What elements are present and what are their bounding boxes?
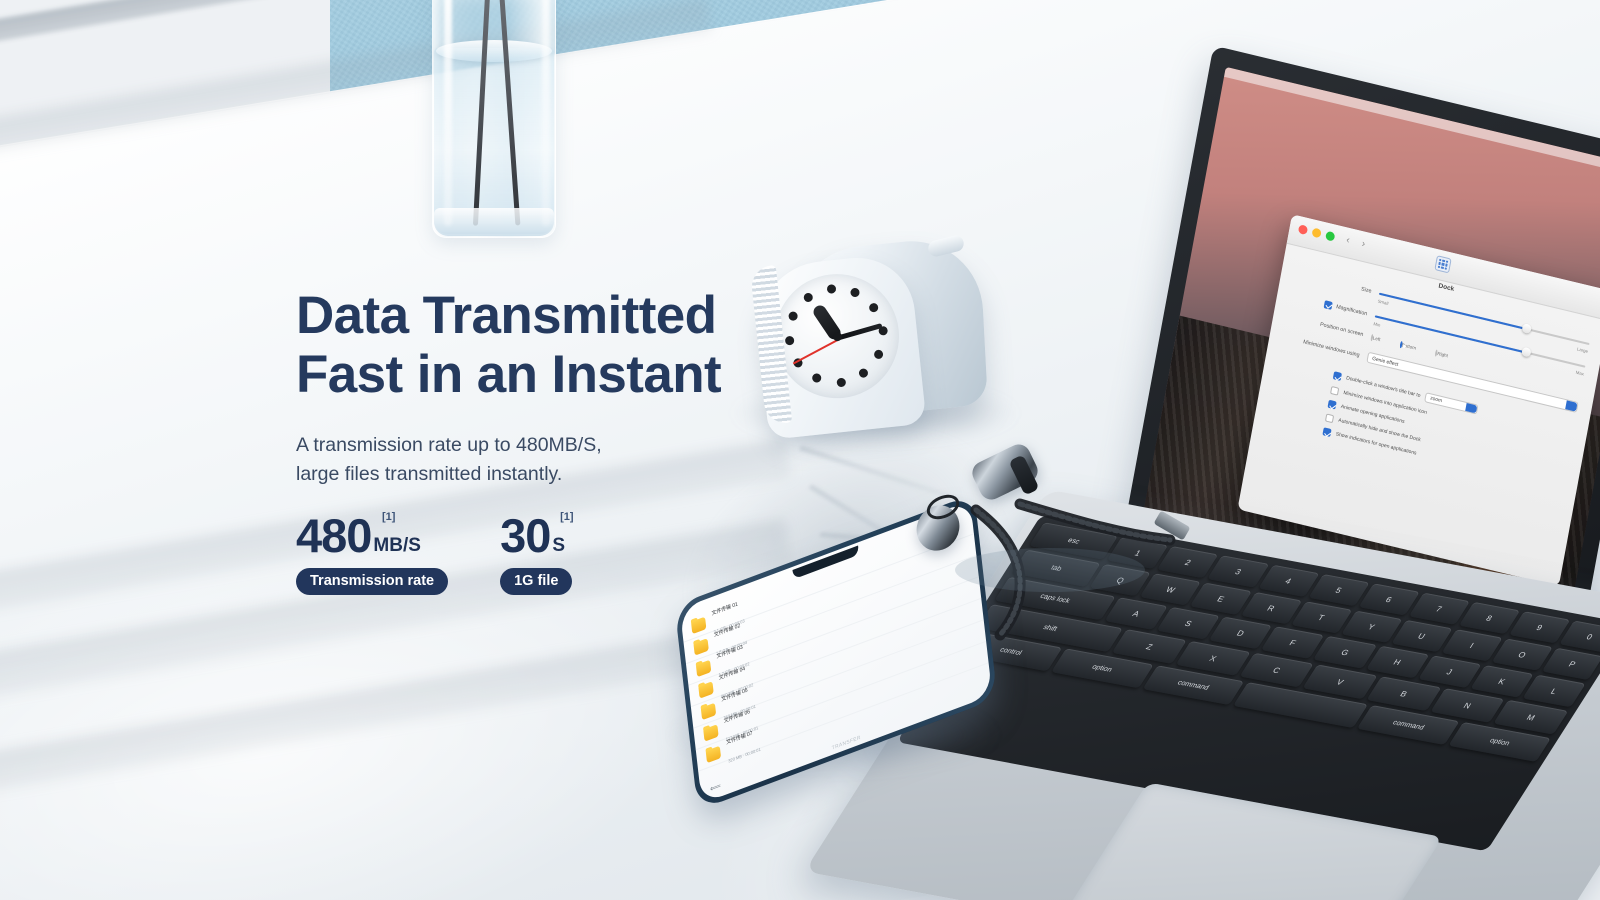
slider-max-label: Max	[1575, 370, 1584, 377]
stat-transmission-rate: [1] 480 MB/S Transmission rate	[296, 514, 448, 595]
back-icon[interactable]: ‹	[1345, 235, 1350, 247]
key-6[interactable]: 6	[1358, 583, 1419, 615]
clock-second-hand	[793, 339, 838, 364]
checkbox[interactable]	[1327, 400, 1336, 410]
page-title: Data Transmitted Fast in an Instant	[296, 286, 766, 405]
subheadline-line-1: A transmission rate up to 480MB/S,	[296, 431, 766, 460]
stat-number: 30	[500, 514, 550, 559]
subheadline: A transmission rate up to 480MB/S, large…	[296, 431, 766, 489]
key-7[interactable]: 7	[1408, 593, 1469, 625]
glass-highlight	[542, 0, 550, 226]
stat-number: 480	[296, 514, 371, 559]
folder-icon	[698, 681, 713, 699]
checkbox[interactable]	[1330, 386, 1339, 396]
key-j[interactable]: J	[1418, 655, 1481, 688]
key-i[interactable]: I	[1441, 629, 1502, 661]
row-label: Magnification	[1336, 304, 1368, 317]
stat-unit: S	[552, 535, 565, 557]
marketing-copy: Data Transmitted Fast in an Instant A tr…	[296, 286, 766, 595]
water-surface	[436, 40, 552, 62]
checkbox[interactable]	[1333, 371, 1342, 381]
key-f[interactable]: F	[1261, 626, 1324, 659]
radio-label: Left	[1373, 335, 1381, 342]
glass-base	[434, 208, 554, 236]
row-label: Size	[1295, 270, 1380, 296]
close-icon[interactable]	[1298, 224, 1308, 235]
minimize-icon[interactable]	[1311, 227, 1321, 238]
slider-max-label: Large	[1577, 346, 1589, 354]
key-o[interactable]: O	[1491, 638, 1552, 670]
headline-line-1: Data Transmitted	[296, 286, 766, 345]
checkbox[interactable]	[1322, 427, 1331, 437]
zoom-icon[interactable]	[1325, 231, 1335, 242]
slider-min-label: Small	[1377, 299, 1389, 306]
headline-line-2: Fast in an Instant	[296, 345, 766, 404]
position-radio-bottom[interactable]: Bottom	[1400, 341, 1417, 350]
folder-icon	[706, 746, 721, 764]
slider-min-label: Min	[1373, 321, 1381, 328]
key-h[interactable]: H	[1366, 646, 1429, 679]
phone-brand-label: TRANSFER	[832, 735, 862, 752]
key-t[interactable]: T	[1291, 601, 1352, 633]
stat-transfer-time: [1] 30 S 1G file	[500, 514, 572, 595]
footnote-marker: [1]	[560, 511, 573, 523]
folder-icon	[693, 638, 708, 656]
show-all-grid-icon[interactable]	[1434, 255, 1451, 273]
scene-stage: ‹ › Dock Size	[0, 0, 1600, 900]
key-u[interactable]: U	[1391, 620, 1452, 652]
key-4[interactable]: 4	[1258, 565, 1319, 597]
water-volume	[434, 48, 554, 234]
list-item-meta: 320 MB · 00:00:01	[728, 746, 761, 763]
key-k[interactable]: K	[1470, 665, 1533, 698]
checkbox[interactable]	[1325, 413, 1334, 423]
select-value: zoom	[1430, 395, 1443, 404]
folder-icon	[691, 617, 706, 635]
radio-label: Right	[1437, 350, 1448, 357]
magnification-checkbox[interactable]	[1324, 300, 1333, 310]
key-l[interactable]: L	[1522, 675, 1585, 708]
key-p[interactable]: P	[1542, 648, 1600, 680]
position-radio-right[interactable]: Right	[1435, 350, 1448, 358]
glass-highlight	[444, 0, 452, 226]
stat-unit: MB/S	[373, 535, 421, 557]
back-arrow-icon[interactable]: ⟸	[710, 781, 722, 794]
folder-icon	[701, 703, 716, 721]
key-y[interactable]: Y	[1341, 611, 1402, 643]
position-radio-left[interactable]: Left	[1371, 334, 1381, 341]
folder-icon	[703, 724, 718, 742]
status-badge: 1G file	[500, 568, 572, 595]
key-8[interactable]: 8	[1459, 602, 1520, 634]
glass-of-water	[424, 0, 564, 246]
key-r[interactable]: R	[1240, 592, 1301, 624]
folder-icon	[696, 660, 711, 678]
footnote-marker: [1]	[382, 511, 395, 523]
clock-center-cap	[832, 331, 842, 341]
chevron-down-icon[interactable]	[1565, 400, 1577, 411]
key-g[interactable]: G	[1313, 636, 1376, 669]
status-badge: Transmission rate	[296, 568, 448, 595]
forward-icon[interactable]: ›	[1361, 238, 1366, 250]
key-9[interactable]: 9	[1509, 611, 1570, 643]
list-item-title: 文件传输 07	[726, 730, 753, 746]
chevron-down-icon[interactable]	[1465, 403, 1477, 413]
key-5[interactable]: 5	[1308, 574, 1369, 606]
stats-group: [1] 480 MB/S Transmission rate [1] 30 S …	[296, 514, 766, 595]
select-value: Genie effect	[1372, 355, 1399, 367]
subheadline-line-2: large files transmitted instantly.	[296, 460, 766, 489]
